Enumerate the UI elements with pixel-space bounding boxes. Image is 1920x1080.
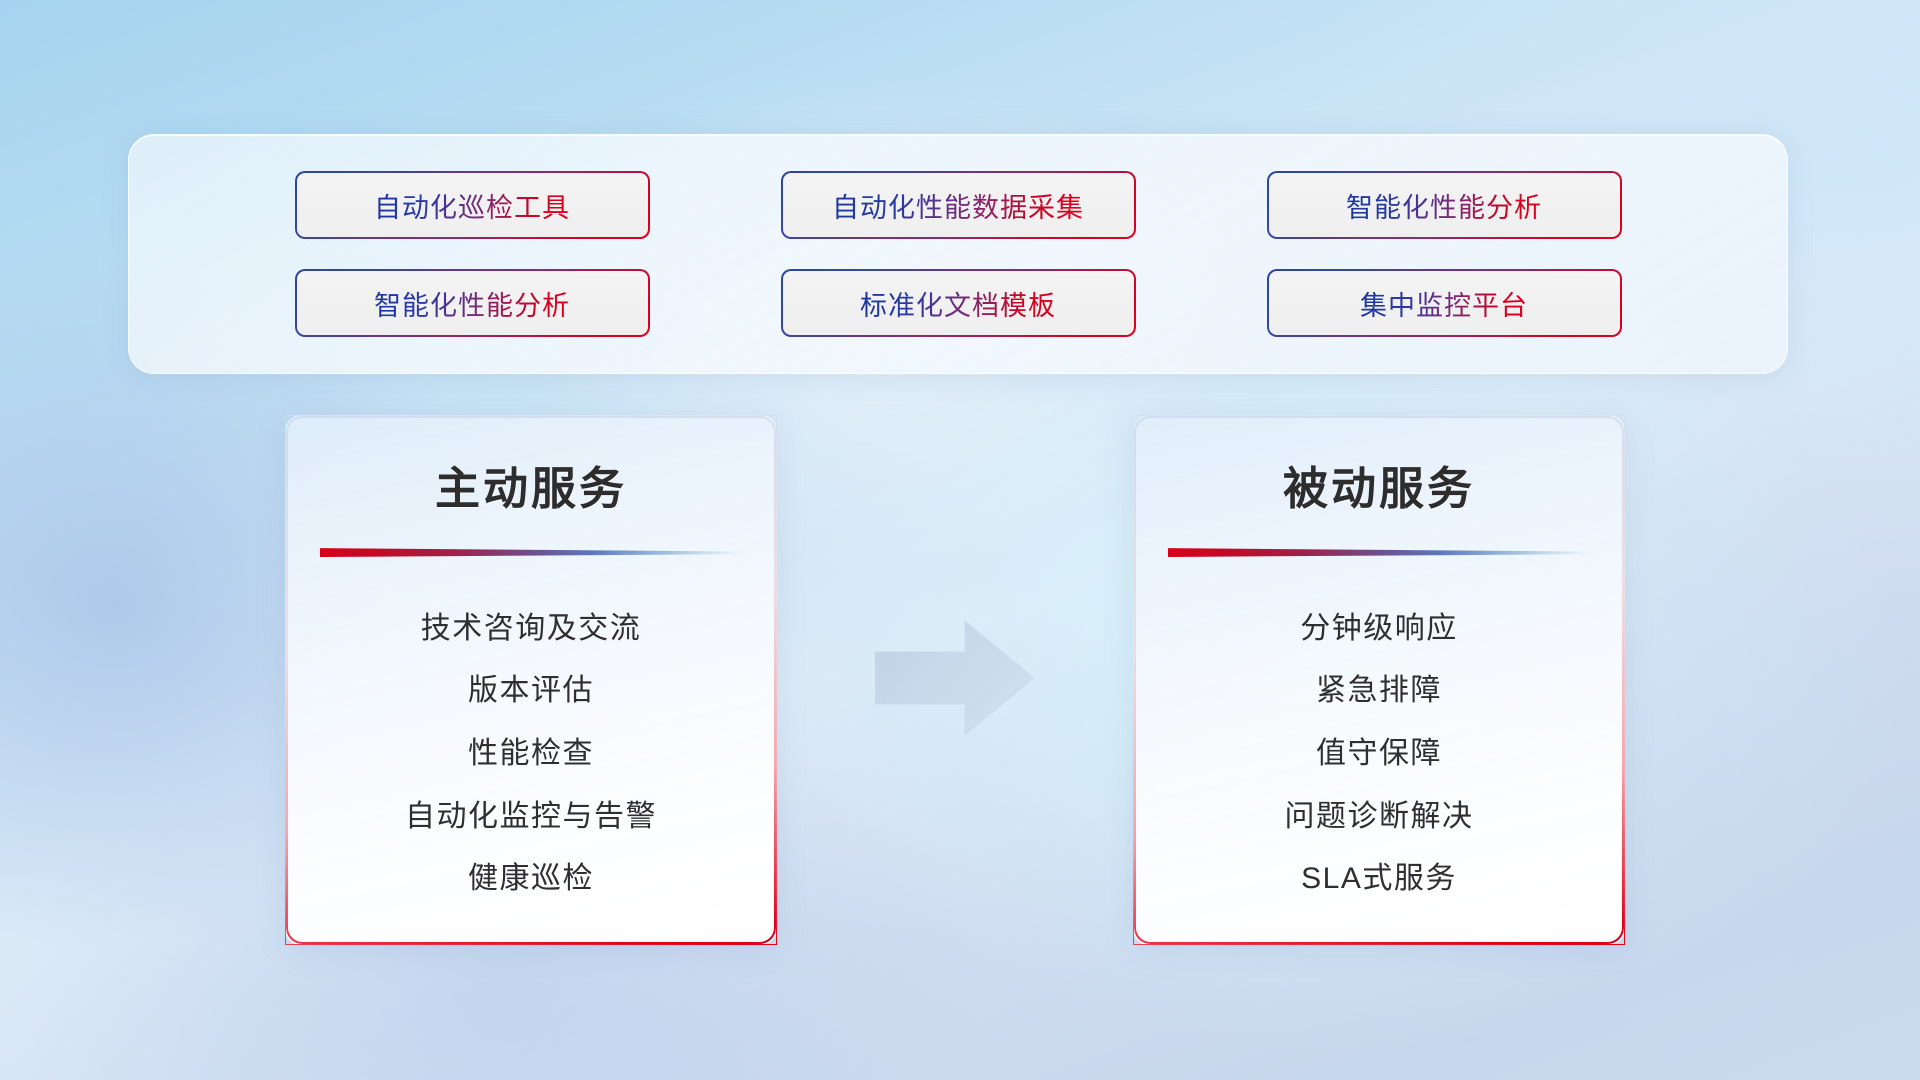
- service-panel-reactive: 被动服务 分钟级响应 紧急排障 值守保障 问题诊断解决 SLA式服务: [1133, 415, 1625, 945]
- panel-list-item: 性能检查: [468, 728, 594, 772]
- capability-pill-inner: 智能化性能分析: [297, 271, 648, 335]
- panel-list-item: 紧急排障: [1316, 665, 1442, 709]
- capability-pill-label: 集中监控平台: [1360, 284, 1528, 323]
- panel-list-item: 健康巡检: [468, 853, 594, 897]
- panel-item-list: 技术咨询及交流 版本评估 性能检查 自动化监控与告警 健康巡检: [286, 584, 776, 916]
- panel-divider: [1168, 544, 1592, 557]
- capability-pill-label: 标准化文档模板: [860, 284, 1056, 323]
- capability-pill[interactable]: 智能化性能分析: [295, 269, 650, 337]
- capability-pill-label: 自动化巡检工具: [374, 186, 570, 225]
- panel-list-item: 值守保障: [1316, 728, 1442, 772]
- capability-card: 自动化巡检工具 自动化性能数据采集 智能化性能分析 智能化性能分析: [128, 134, 1788, 374]
- panel-title: 被动服务: [1134, 452, 1624, 517]
- panel-list-item: 问题诊断解决: [1285, 791, 1474, 835]
- capability-pill[interactable]: 自动化巡检工具: [295, 171, 650, 239]
- capability-pill-label: 自动化性能数据采集: [832, 186, 1084, 225]
- service-panel-proactive: 主动服务 技术咨询及交流 版本评估 性能检查 自动化监控与告警 健康巡检: [285, 415, 777, 945]
- panel-list-item: SLA式服务: [1301, 853, 1457, 897]
- capability-pill[interactable]: 集中监控平台: [1267, 269, 1622, 337]
- capability-pill[interactable]: 自动化性能数据采集: [781, 171, 1136, 239]
- panel-list-item: 分钟级响应: [1300, 603, 1458, 647]
- slide-canvas: 自动化巡检工具 自动化性能数据采集 智能化性能分析 智能化性能分析: [0, 0, 1920, 1080]
- panel-divider: [320, 544, 744, 557]
- panel-list-item: 自动化监控与告警: [405, 791, 657, 835]
- panel-list-item: 版本评估: [468, 665, 594, 709]
- panel-list-item: 技术咨询及交流: [421, 603, 642, 647]
- capability-pill-inner: 智能化性能分析: [1269, 173, 1620, 237]
- panel-title: 主动服务: [286, 452, 776, 517]
- arrow-right-icon: [875, 618, 1035, 738]
- capability-pill-inner: 标准化文档模板: [783, 271, 1134, 335]
- capability-pill[interactable]: 智能化性能分析: [1267, 171, 1622, 239]
- panel-item-list: 分钟级响应 紧急排障 值守保障 问题诊断解决 SLA式服务: [1134, 584, 1624, 916]
- capability-pill-inner: 自动化性能数据采集: [783, 173, 1134, 237]
- capability-pill-grid: 自动化巡检工具 自动化性能数据采集 智能化性能分析 智能化性能分析: [229, 165, 1687, 343]
- capability-pill[interactable]: 标准化文档模板: [781, 269, 1136, 337]
- capability-pill-label: 智能化性能分析: [1346, 186, 1542, 225]
- capability-pill-label: 智能化性能分析: [374, 284, 570, 323]
- capability-pill-inner: 集中监控平台: [1269, 271, 1620, 335]
- capability-pill-inner: 自动化巡检工具: [297, 173, 648, 237]
